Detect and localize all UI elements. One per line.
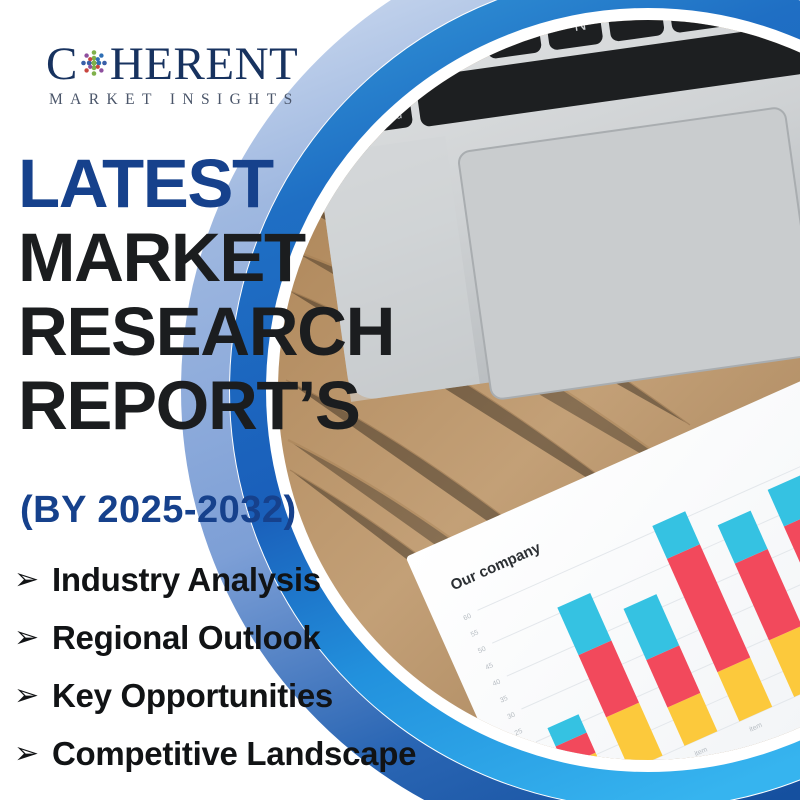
headline-line-2: MARKET <box>18 221 438 295</box>
brand-tagline: MARKET INSIGHTS <box>49 91 346 109</box>
arrowhead-right-icon: ➢ <box>14 565 52 595</box>
brand-name-rest: HERENT <box>110 41 298 88</box>
list-item-label: Key Opportunities <box>52 677 333 715</box>
year-range-subtitle: (BY 2025-2032) <box>20 489 297 532</box>
brand-logo: C <box>46 41 346 109</box>
headline-line-4: REPORT’S <box>18 369 438 443</box>
arrowhead-right-icon: ➢ <box>14 623 52 653</box>
trackpad <box>457 107 800 400</box>
list-item: ➢ Key Opportunities <box>14 667 554 725</box>
feature-list: ➢ Industry Analysis ➢ Regional Outlook ➢… <box>14 551 554 783</box>
arrowhead-right-icon: ➢ <box>14 739 52 769</box>
list-item: ➢ Regional Outlook <box>14 609 554 667</box>
list-item-label: Competitive Landscape <box>52 735 416 773</box>
list-item-label: Regional Outlook <box>52 619 320 657</box>
globe-dot-sphere-icon <box>79 48 109 78</box>
brand-wordmark: C <box>46 41 346 87</box>
list-item: ➢ Industry Analysis <box>14 551 554 609</box>
page-title: LATEST MARKET RESEARCH REPORT’S <box>18 147 438 443</box>
list-item-label: Industry Analysis <box>52 561 321 599</box>
brand-name-first-letter: C <box>46 41 78 88</box>
poster-canvas: V B N ⌘ command option ⌘ command <box>0 0 800 800</box>
headline-line-3: RESEARCH <box>18 295 438 369</box>
list-item: ➢ Competitive Landscape <box>14 725 554 783</box>
headline-line-1: LATEST <box>18 147 438 221</box>
arrowhead-right-icon: ➢ <box>14 681 52 711</box>
